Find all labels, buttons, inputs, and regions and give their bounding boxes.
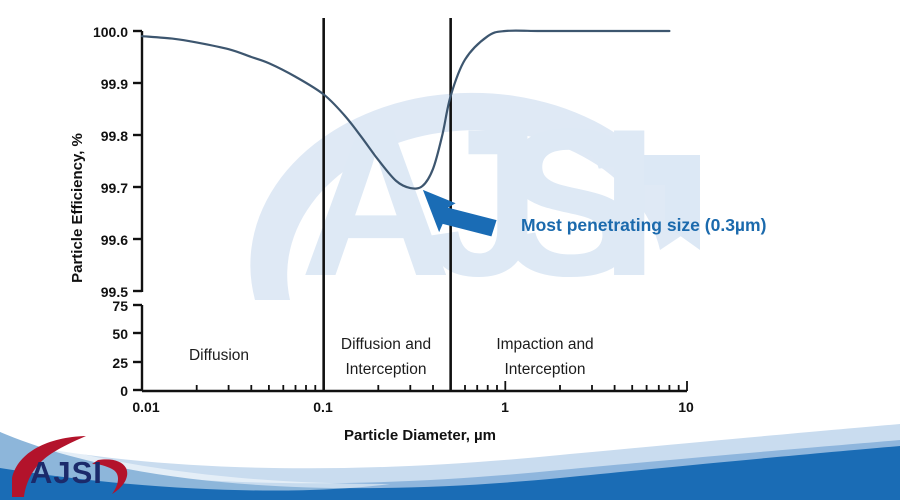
y-ticklabel-lower-1: 25 bbox=[112, 355, 128, 371]
region-2-line1: Impaction and bbox=[496, 336, 593, 353]
region-2-line2: Interception bbox=[505, 361, 586, 378]
y-ticklabel-lower-0: 0 bbox=[120, 383, 128, 399]
x-ticklabel-0: 0.01 bbox=[132, 399, 159, 415]
y-ticklabel-upper-1: 99.6 bbox=[101, 232, 128, 248]
y-ticklabel-upper-5: 100.0 bbox=[93, 24, 128, 40]
y-axis-title: Particle Efficiency, % bbox=[69, 133, 86, 283]
y-ticklabels-lower: 75 50 25 0 bbox=[112, 298, 128, 399]
region-label-diffusion: Diffusion bbox=[189, 347, 249, 364]
x-axis-title: Particle Diameter, µm bbox=[344, 427, 496, 444]
watermark-letter-i: I bbox=[600, 85, 658, 320]
chart-svg: A J S I 100.0 99.9 99.8 99.7 99.6 99.5 bbox=[0, 0, 900, 500]
watermark-ajsi: A J S I bbox=[250, 85, 700, 320]
y-ticks-upper bbox=[133, 31, 142, 291]
x-ticks bbox=[142, 381, 687, 391]
y-ticklabel-upper-2: 99.7 bbox=[101, 180, 128, 196]
logo-text: AJSI bbox=[30, 455, 103, 490]
x-ticklabel-1: 0.1 bbox=[313, 399, 333, 415]
y-ticks-lower bbox=[133, 305, 142, 390]
region-1-line2: Interception bbox=[346, 361, 427, 378]
x-ticklabel-3: 10 bbox=[678, 399, 694, 415]
region-1-line1: Diffusion and bbox=[341, 336, 431, 353]
y-ticklabel-upper-3: 99.8 bbox=[101, 128, 128, 144]
region-label-diffusion-interception: Diffusion and Interception bbox=[341, 336, 431, 378]
slide-canvas: A J S I 100.0 99.9 99.8 99.7 99.6 99.5 bbox=[0, 0, 900, 500]
y-ticklabel-upper-4: 99.9 bbox=[101, 76, 128, 92]
callout-label: Most penetrating size (0.3µm) bbox=[521, 215, 766, 235]
x-ticklabel-2: 1 bbox=[501, 399, 509, 415]
region-0-line1: Diffusion bbox=[189, 347, 249, 364]
x-ticklabels: 0.01 0.1 1 10 bbox=[132, 399, 694, 415]
y-ticklabel-lower-3: 75 bbox=[112, 298, 128, 314]
region-label-impaction-interception: Impaction and Interception bbox=[496, 336, 593, 378]
y-ticklabel-lower-2: 50 bbox=[112, 326, 128, 342]
y-ticklabels-upper: 100.0 99.9 99.8 99.7 99.6 99.5 bbox=[93, 24, 128, 300]
